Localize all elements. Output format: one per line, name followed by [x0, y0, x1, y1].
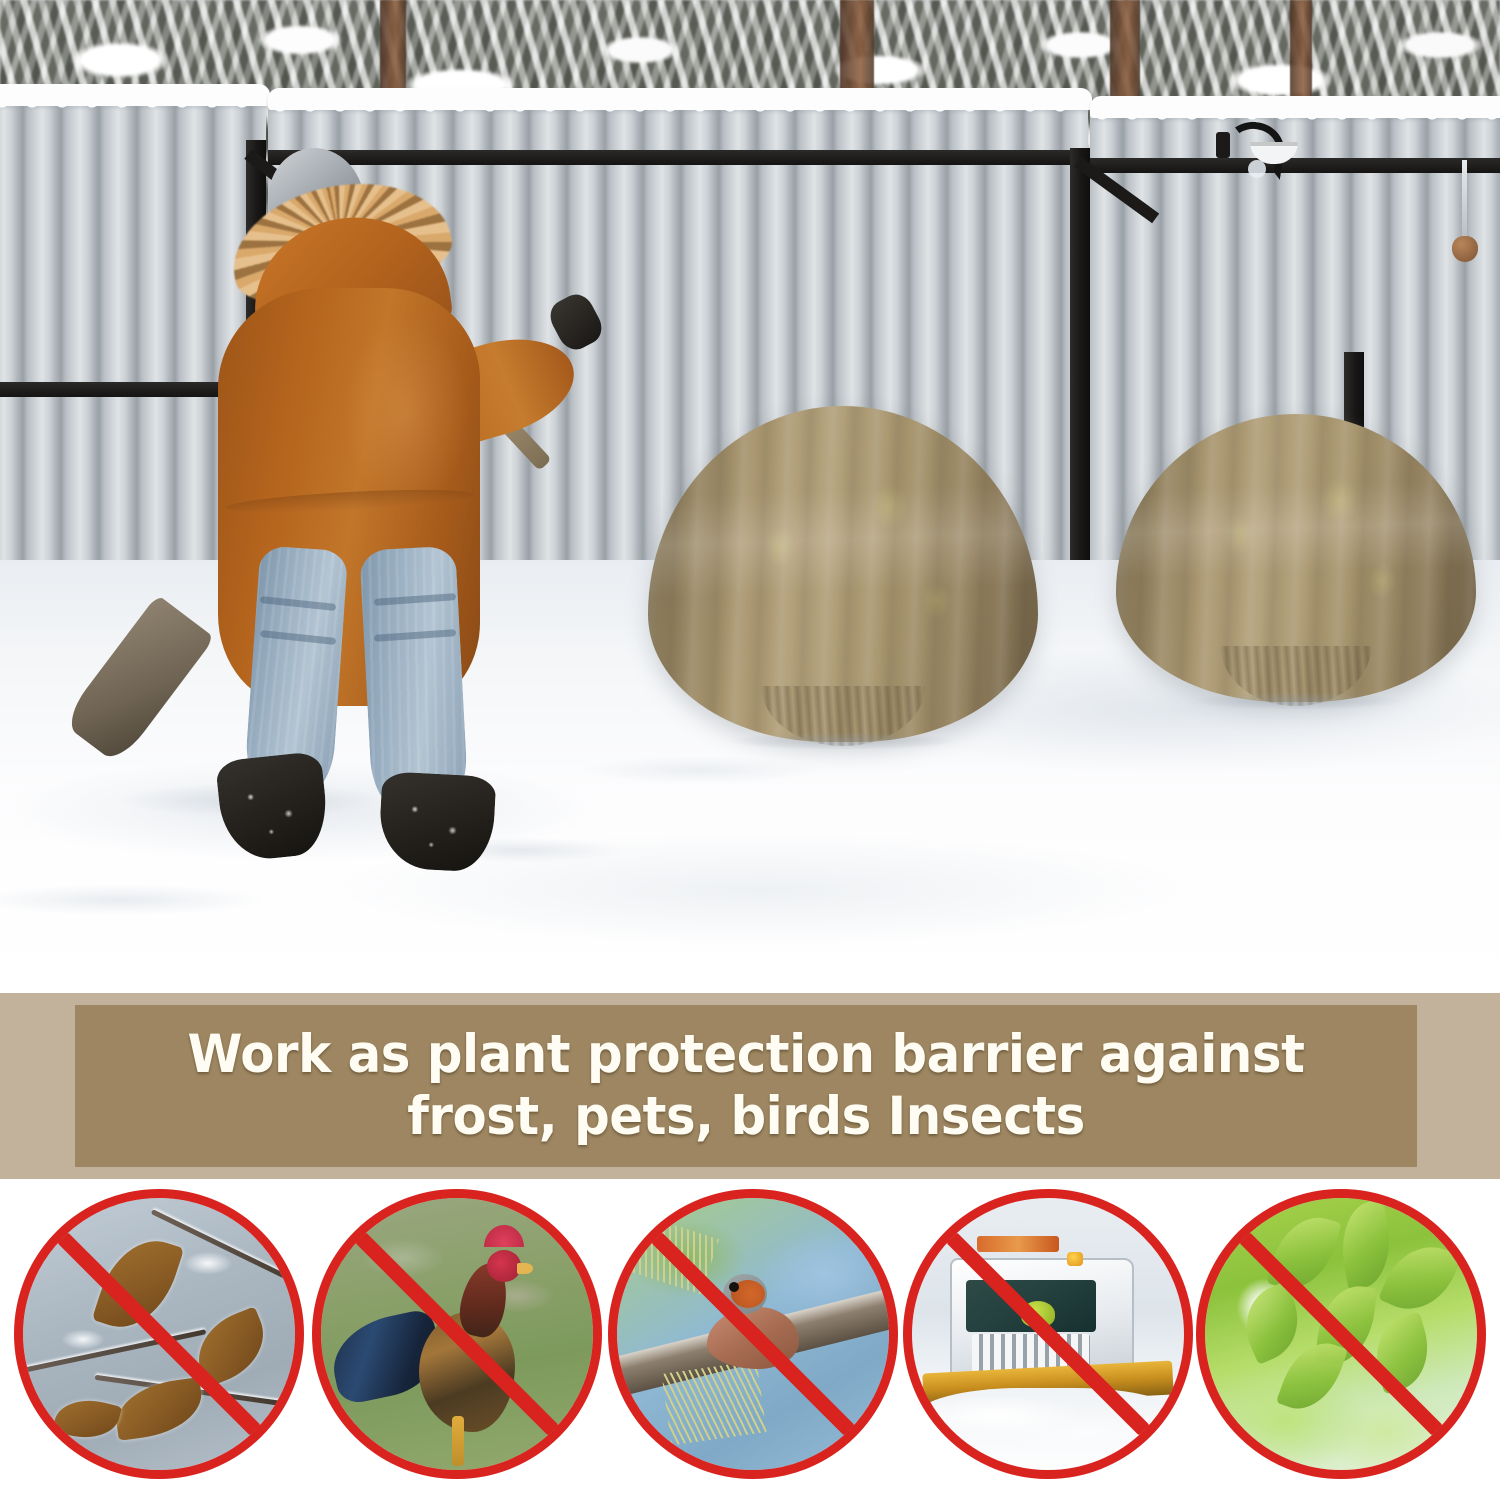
lamp-bulb-icon	[1248, 160, 1266, 178]
plant-cover-left	[648, 406, 1038, 742]
prohibition-icon-row	[0, 1179, 1500, 1493]
snow-on-fence	[1090, 96, 1500, 118]
no-sun-icon	[1196, 1189, 1486, 1479]
snow-on-fence	[268, 88, 1092, 110]
hanging-rope	[1462, 160, 1467, 242]
glove	[544, 289, 607, 356]
no-snowplow-icon	[903, 1189, 1193, 1479]
no-frost-icon	[14, 1189, 304, 1479]
right-leg-jeans	[359, 546, 468, 809]
snow-on-fence	[0, 84, 270, 106]
cover-shadow	[1145, 688, 1447, 714]
fence-post	[1070, 148, 1090, 628]
hero-photo	[0, 0, 1500, 995]
no-birds-icon	[608, 1189, 898, 1479]
fence-rail	[1090, 158, 1500, 173]
caption-text: Work as plant protection barrier against…	[115, 1005, 1376, 1167]
no-pets-icon	[312, 1189, 602, 1479]
winter-boot-left	[215, 751, 331, 864]
hanging-bell-icon	[1452, 236, 1478, 262]
cover-shadow	[679, 728, 1007, 754]
plant-cover-right	[1116, 414, 1476, 702]
person-shoveling-snow	[190, 148, 610, 848]
